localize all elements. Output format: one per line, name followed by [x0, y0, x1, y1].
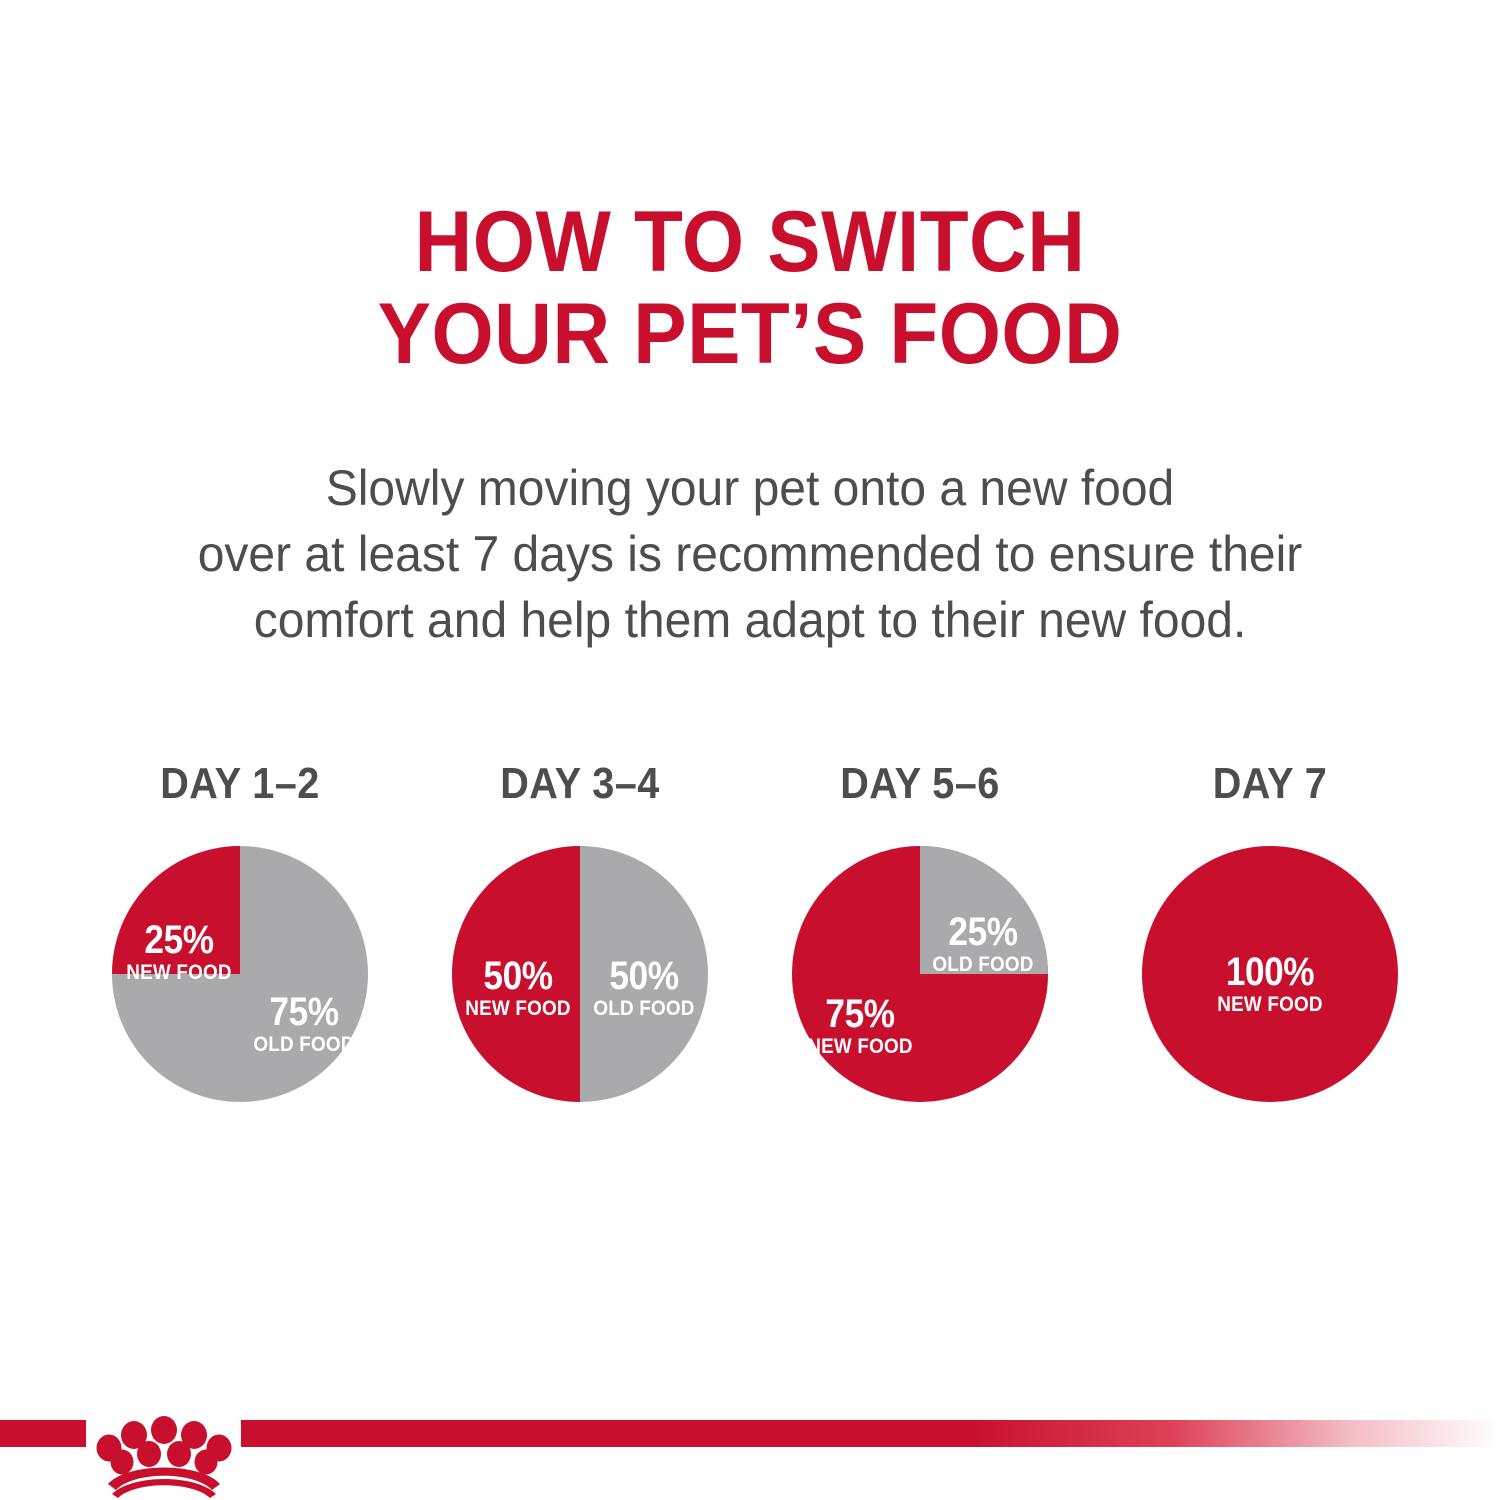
pie-svg-1 — [112, 846, 368, 1102]
footer-bar-right — [241, 1420, 1500, 1447]
intro-line-2: over at least 7 days is recommended to e… — [30, 521, 1470, 587]
pie-chart-day-1-2: 25% NEW FOOD 75% OLD FOOD — [112, 846, 368, 1102]
footer — [0, 1398, 1500, 1500]
pie-slice-new-food-1 — [112, 846, 240, 974]
day-label-3: DAY 5–6 — [785, 760, 1055, 808]
pie-slice-new-food-2 — [452, 846, 580, 1102]
pie-cell-day-3-4: DAY 3–4 50% NEW FOOD 50% OLD FOOD — [430, 760, 730, 1160]
crown-logo-svg — [86, 1398, 242, 1500]
pie-slice-old-food-3 — [920, 846, 1048, 974]
pie-cell-day-7: DAY 7 100% NEW FOOD — [1120, 760, 1420, 1160]
title-line-2: YOUR PET’S FOOD — [53, 288, 1448, 380]
pie-chart-row: DAY 1–2 25% NEW FOOD 75% OLD FOOD DAY 3–… — [0, 760, 1500, 1160]
pie-svg-3 — [792, 846, 1048, 1102]
intro-line-3: comfort and help them adapt to their new… — [30, 587, 1470, 653]
day-label-2: DAY 3–4 — [445, 760, 715, 808]
title-line-1: HOW TO SWITCH — [53, 196, 1448, 288]
royal-canin-crown-icon — [86, 1398, 242, 1500]
intro-line-1: Slowly moving your pet onto a new food — [30, 455, 1470, 521]
day-label-4: DAY 7 — [1135, 760, 1405, 808]
infographic-page: HOW TO SWITCH YOUR PET’S FOOD Slowly mov… — [0, 0, 1500, 1500]
pie-svg-2 — [452, 846, 708, 1102]
pie-cell-day-1-2: DAY 1–2 25% NEW FOOD 75% OLD FOOD — [90, 760, 390, 1160]
footer-bar-left — [0, 1420, 86, 1447]
pie-chart-day-5-6: 25% OLD FOOD 75% NEW FOOD — [792, 846, 1048, 1102]
page-title: HOW TO SWITCH YOUR PET’S FOOD — [0, 196, 1500, 380]
intro-paragraph: Slowly moving your pet onto a new food o… — [0, 455, 1500, 653]
day-label-1: DAY 1–2 — [105, 760, 375, 808]
pie-slice-new-food-4 — [1142, 846, 1398, 1102]
pie-cell-day-5-6: DAY 5–6 25% OLD FOOD 75% NEW FOOD — [770, 760, 1070, 1160]
pie-chart-day-7: 100% NEW FOOD — [1142, 846, 1398, 1102]
pie-svg-4 — [1142, 846, 1398, 1102]
pie-chart-day-3-4: 50% NEW FOOD 50% OLD FOOD — [452, 846, 708, 1102]
